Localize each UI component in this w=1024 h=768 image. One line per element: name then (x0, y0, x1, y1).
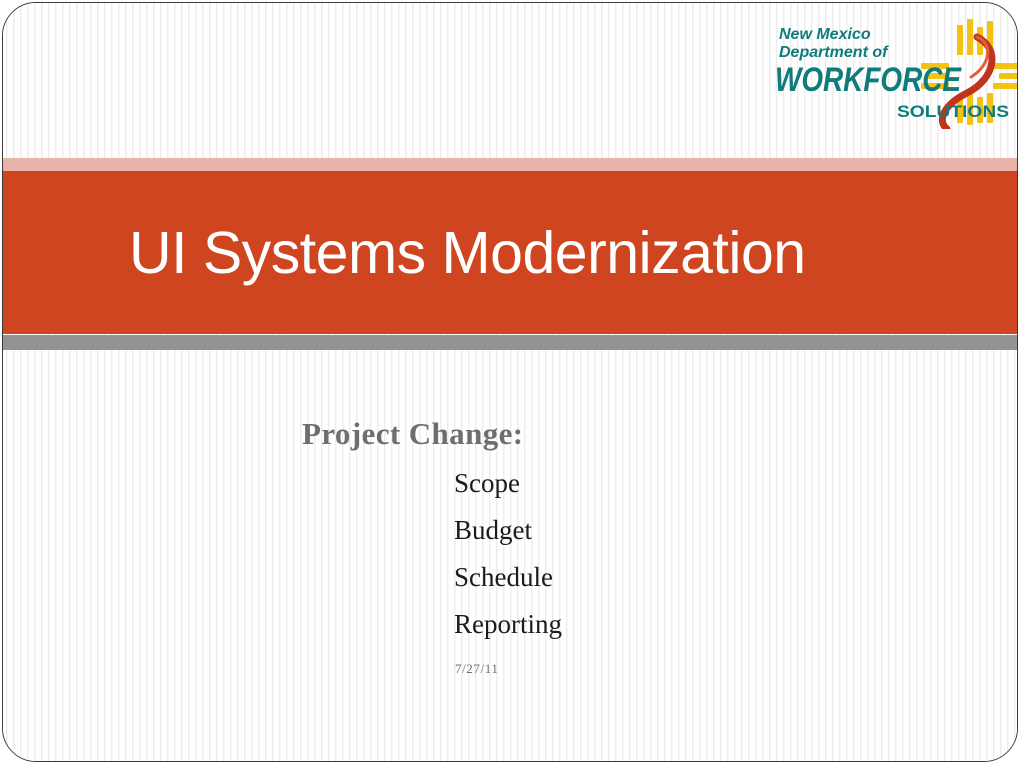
presentation-slide: New Mexico Department of WORKFORCE SOLUT… (0, 0, 1024, 768)
list-item: Reporting (454, 607, 562, 654)
nm-workforce-solutions-logo: New Mexico Department of WORKFORCE SOLUT… (771, 17, 1018, 129)
title-band-gray-accent (3, 335, 1018, 350)
title-band-pink-accent (3, 158, 1018, 171)
svg-text:Department of: Department of (779, 44, 889, 61)
body-bullet-list: Scope Budget Schedule Reporting (454, 466, 562, 654)
list-item: Schedule (454, 560, 562, 607)
slide-title: UI Systems Modernization (3, 171, 1018, 334)
svg-text:New Mexico: New Mexico (779, 26, 871, 43)
slide-frame: New Mexico Department of WORKFORCE SOLUT… (2, 2, 1018, 762)
list-item: Budget (454, 513, 562, 560)
svg-text:SOLUTIONS: SOLUTIONS (897, 102, 1009, 121)
date-stamp: 7/27/11 (455, 661, 498, 677)
svg-text:WORKFORCE: WORKFORCE (775, 61, 962, 99)
list-item: Scope (454, 466, 562, 513)
body-lead-line: Project Change: (302, 416, 524, 452)
